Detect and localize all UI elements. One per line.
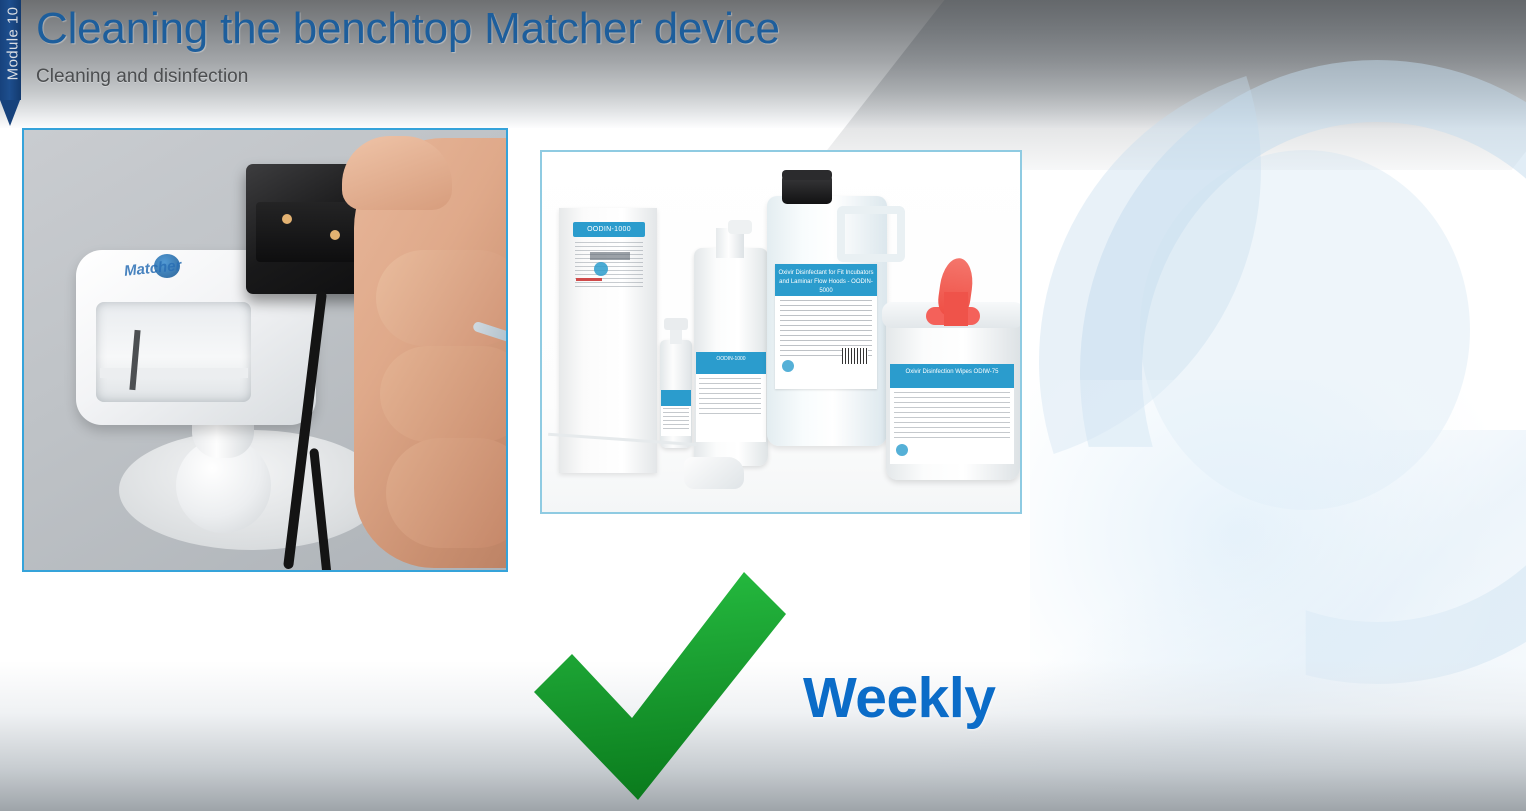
- black-module-face: [256, 202, 366, 262]
- page-title: Cleaning the benchtop Matcher device: [36, 4, 780, 54]
- pump-bottle-neck: [670, 328, 682, 344]
- wipes-tub-label-text-lines: [894, 392, 1010, 442]
- slide-canvas: Module 10 Cleaning the benchtop Matcher …: [0, 0, 1526, 811]
- page-subtitle: Cleaning and disinfection: [36, 66, 248, 88]
- carton-label-logo-icon: [594, 262, 608, 276]
- module-ribbon-label: Module 10: [5, 0, 22, 90]
- carton-label-text-lines: [575, 242, 643, 288]
- frequency-label: Weekly: [803, 665, 995, 731]
- carton-label-warning-line: [576, 278, 602, 281]
- module-led-right-icon: [330, 230, 340, 240]
- device-aperture: [96, 302, 251, 402]
- jerrycan-cap-top: [782, 170, 832, 180]
- disinfection-products-photo: OODIN-1000 OODIN-1000 Oxivir Disinfectan…: [540, 150, 1022, 514]
- operator-finger-2: [380, 346, 508, 442]
- module-led-left-icon: [282, 214, 292, 224]
- pump-bottle-label-text-lines: [663, 408, 689, 430]
- pump-bottle-label-band: [661, 390, 691, 406]
- module-ribbon: Module 10: [0, 0, 21, 126]
- wipes-tub-label-logo-icon: [896, 444, 908, 456]
- device-inner-shelf: [100, 368, 248, 378]
- spray-bottle-tip: [728, 220, 752, 234]
- operator-finger-3: [386, 438, 508, 548]
- jerrycan-label-logo-icon: [782, 360, 794, 372]
- check-mark-icon: [528, 566, 792, 806]
- watermark-inner-circle: [1140, 150, 1470, 510]
- spray-bottle-label-code: OODIN-1000: [696, 353, 766, 374]
- jerrycan-label-code: Oxivir Disinfectant for Fit Incubators a…: [775, 266, 877, 296]
- spray-bottle-label-text-lines: [699, 378, 761, 418]
- carton-label-code: OODIN-1000: [573, 222, 645, 237]
- operator-thumb: [342, 136, 452, 210]
- benchtop-matcher-device-photo: Matcher: [22, 128, 508, 572]
- spray-trigger-head: [684, 457, 744, 489]
- wipes-tub-label-code: Oxivir Disinfection Wipes ODIW-75: [890, 365, 1014, 388]
- wipes-tub-wipe-stem: [944, 292, 968, 326]
- module-ribbon-tip-icon: [0, 100, 20, 126]
- watermark-ring-shape: [1080, 60, 1526, 684]
- jerrycan-handle: [837, 206, 905, 262]
- jerrycan-barcode-icon: [842, 348, 868, 364]
- carton-label-heading: [590, 252, 630, 260]
- pump-bottle-pump-head: [664, 318, 688, 330]
